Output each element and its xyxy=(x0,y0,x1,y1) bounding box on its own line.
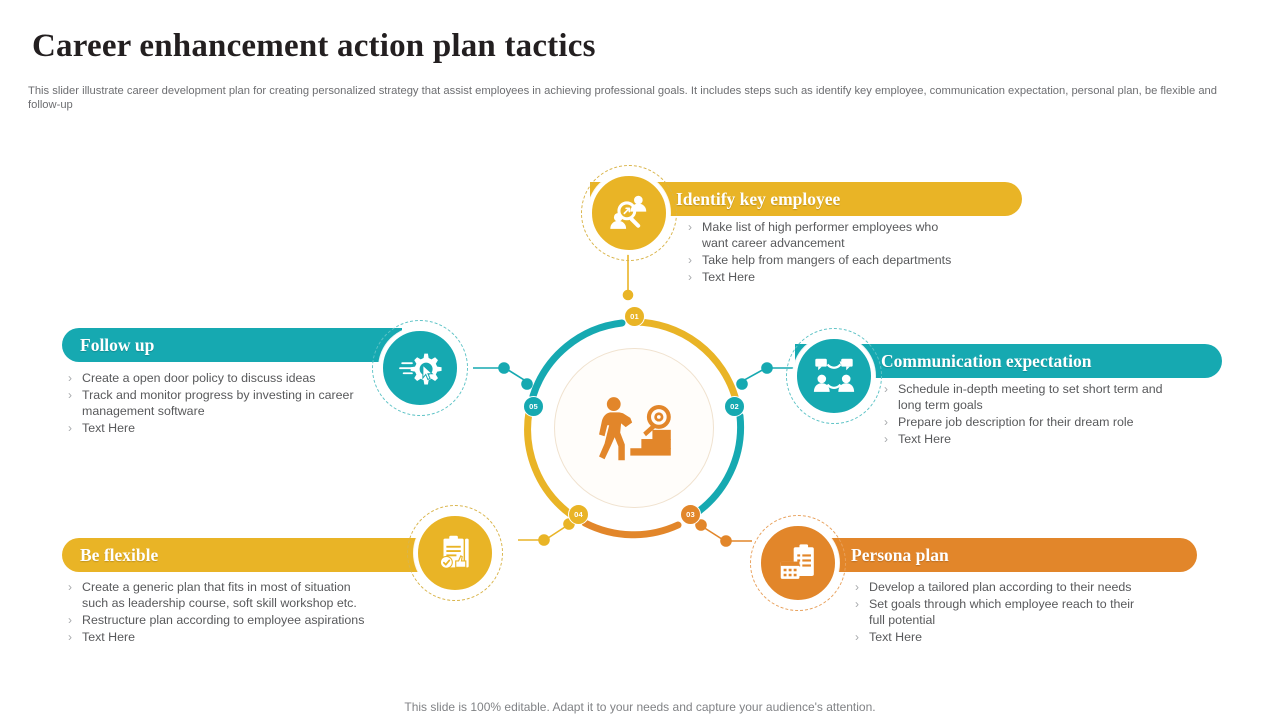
chevron-right-icon: › xyxy=(884,414,888,430)
bullet-text: Take help from mangers of each departmen… xyxy=(702,252,951,268)
step-title: Identify key employee xyxy=(676,189,840,210)
bullet-text: Text Here xyxy=(702,269,755,285)
step-icon-circle-02[interactable] xyxy=(786,328,882,424)
badge-number: 04 xyxy=(574,510,583,519)
list-item: › Text Here xyxy=(855,629,1185,645)
step-icon-circle-01[interactable] xyxy=(581,165,677,261)
bullet-text: Create a generic plan that fits in most … xyxy=(82,579,357,611)
people-communication-icon xyxy=(811,353,857,399)
badge-number: 02 xyxy=(730,402,739,411)
badge-number: 01 xyxy=(630,312,639,321)
central-hub: 01 02 03 04 05 xyxy=(518,312,750,544)
step-title: Follow up xyxy=(80,335,154,356)
list-item: › Schedule in-depth meeting to set short… xyxy=(884,381,1204,413)
chevron-right-icon: › xyxy=(884,431,888,447)
chevron-right-icon: › xyxy=(855,596,859,628)
step-bullets-05: › Create a open door policy to discuss i… xyxy=(68,370,398,437)
list-item: › Create a generic plan that fits in mos… xyxy=(68,579,408,611)
people-search-icon xyxy=(606,190,652,236)
chevron-right-icon: › xyxy=(855,579,859,595)
bullet-text: Develop a tailored plan according to the… xyxy=(869,579,1131,595)
step-badge-05[interactable]: 05 xyxy=(523,396,544,417)
list-item: › Create a open door policy to discuss i… xyxy=(68,370,398,386)
icon-badge xyxy=(414,512,496,594)
step-title-bar-05: Follow up xyxy=(62,328,402,362)
step-icon-circle-05[interactable] xyxy=(372,320,468,416)
step-bullets-02: › Schedule in-depth meeting to set short… xyxy=(884,381,1204,448)
bullet-text: Set goals through which employee reach t… xyxy=(869,596,1134,628)
step-bullets-04: › Create a generic plan that fits in mos… xyxy=(68,579,408,646)
bullet-text: Prepare job description for their dream … xyxy=(898,414,1134,430)
step-icon-circle-04[interactable] xyxy=(407,505,503,601)
badge-number: 03 xyxy=(686,510,695,519)
list-item: › Take help from mangers of each departm… xyxy=(688,252,988,268)
step-icon-circle-03[interactable] xyxy=(750,515,846,611)
icon-badge xyxy=(793,335,875,417)
chevron-right-icon: › xyxy=(68,370,72,386)
step-badge-03[interactable]: 03 xyxy=(680,504,701,525)
icon-badge xyxy=(379,327,461,409)
bullet-text: Make list of high performer employees wh… xyxy=(702,219,938,251)
step-title: Persona plan xyxy=(851,545,949,566)
list-item: › Set goals through which employee reach… xyxy=(855,596,1185,628)
bullet-text: Text Here xyxy=(898,431,951,447)
slide-footer-note: This slide is 100% editable. Adapt it to… xyxy=(0,700,1280,714)
list-item: › Text Here xyxy=(68,420,398,436)
step-badge-01[interactable]: 01 xyxy=(624,306,645,327)
bullet-text: Restructure plan according to employee a… xyxy=(82,612,364,628)
list-item: › Restructure plan according to employee… xyxy=(68,612,408,628)
checklist-thumbsup-icon xyxy=(432,530,478,576)
chevron-right-icon: › xyxy=(68,420,72,436)
clipboard-calendar-icon xyxy=(775,540,821,586)
bullet-text: Text Here xyxy=(82,629,135,645)
chevron-right-icon: › xyxy=(688,252,692,268)
list-item: › Text Here xyxy=(68,629,408,645)
step-bullets-03: › Develop a tailored plan according to t… xyxy=(855,579,1185,646)
icon-badge xyxy=(588,172,670,254)
step-badge-02[interactable]: 02 xyxy=(724,396,745,417)
gear-cursor-icon xyxy=(397,345,443,391)
step-title: Be flexible xyxy=(80,545,158,566)
list-item: › Develop a tailored plan according to t… xyxy=(855,579,1185,595)
bullet-text: Text Here xyxy=(869,629,922,645)
bullet-text: Track and monitor progress by investing … xyxy=(82,387,354,419)
chevron-right-icon: › xyxy=(68,612,72,628)
list-item: › Text Here xyxy=(884,431,1204,447)
list-item: › Track and monitor progress by investin… xyxy=(68,387,398,419)
bullet-text: Text Here xyxy=(82,420,135,436)
chevron-right-icon: › xyxy=(68,629,72,645)
chevron-right-icon: › xyxy=(688,269,692,285)
slide-canvas: Career enhancement action plan tactics T… xyxy=(0,0,1280,720)
list-item: › Text Here xyxy=(688,269,988,285)
badge-number: 05 xyxy=(529,402,538,411)
bullet-text: Schedule in-depth meeting to set short t… xyxy=(898,381,1163,413)
list-item: › Prepare job description for their drea… xyxy=(884,414,1204,430)
icon-badge xyxy=(757,522,839,604)
hub-inner-circle xyxy=(554,348,714,508)
step-title: Communication expectation xyxy=(881,351,1091,372)
bullet-text: Create a open door policy to discuss ide… xyxy=(82,370,316,386)
step-badge-04[interactable]: 04 xyxy=(568,504,589,525)
chevron-right-icon: › xyxy=(68,579,72,611)
step-bullets-01: › Make list of high performer employees … xyxy=(688,219,988,286)
chevron-right-icon: › xyxy=(855,629,859,645)
chevron-right-icon: › xyxy=(688,219,692,251)
person-climbing-stairs-target-icon xyxy=(588,382,680,474)
list-item: › Make list of high performer employees … xyxy=(688,219,988,251)
chevron-right-icon: › xyxy=(884,381,888,413)
chevron-right-icon: › xyxy=(68,387,72,419)
